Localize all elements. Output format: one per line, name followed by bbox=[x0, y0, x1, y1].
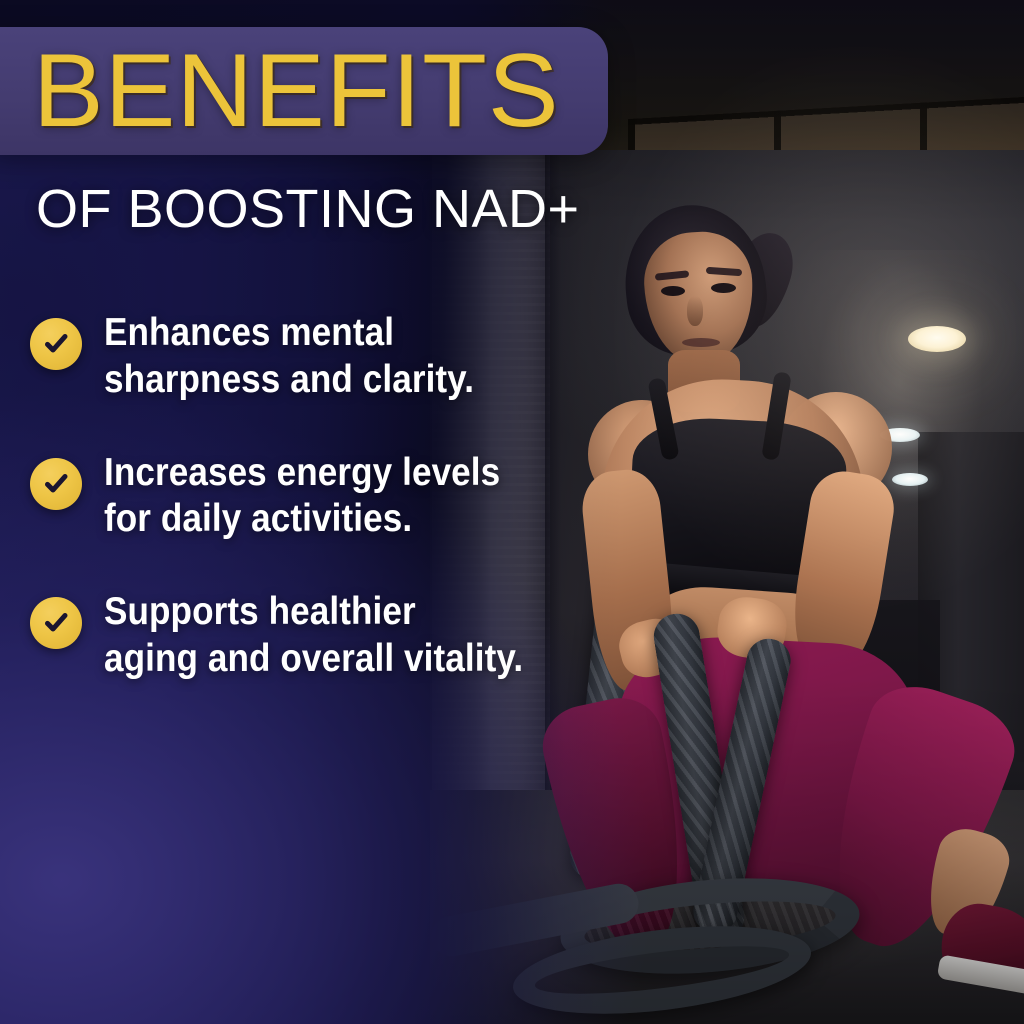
eye-right bbox=[711, 283, 736, 293]
list-item: Supports healthier aging and overall vit… bbox=[30, 589, 590, 683]
check-circle-icon bbox=[30, 458, 82, 510]
eye-left bbox=[661, 286, 685, 296]
check-circle-icon bbox=[30, 597, 82, 649]
benefits-poster: BENEFITS OF BOOSTING NAD+ Enhances menta… bbox=[0, 0, 1024, 1024]
nose bbox=[687, 296, 703, 326]
list-item-label: Supports healthier aging and overall vit… bbox=[104, 589, 523, 683]
top-dark-band bbox=[0, 0, 612, 30]
list-item-label: Increases energy levels for daily activi… bbox=[104, 450, 500, 544]
page-subtitle: OF BOOSTING NAD+ bbox=[36, 182, 580, 236]
check-circle-icon bbox=[30, 318, 82, 370]
mouth bbox=[682, 338, 720, 347]
page-title: BENEFITS bbox=[33, 39, 560, 143]
list-item-label: Enhances mental sharpness and clarity. bbox=[104, 310, 474, 404]
benefits-badge: BENEFITS bbox=[0, 27, 608, 155]
list-item: Enhances mental sharpness and clarity. bbox=[30, 310, 590, 404]
list-item: Increases energy levels for daily activi… bbox=[30, 450, 590, 544]
benefits-list: Enhances mental sharpness and clarity. I… bbox=[30, 310, 590, 729]
